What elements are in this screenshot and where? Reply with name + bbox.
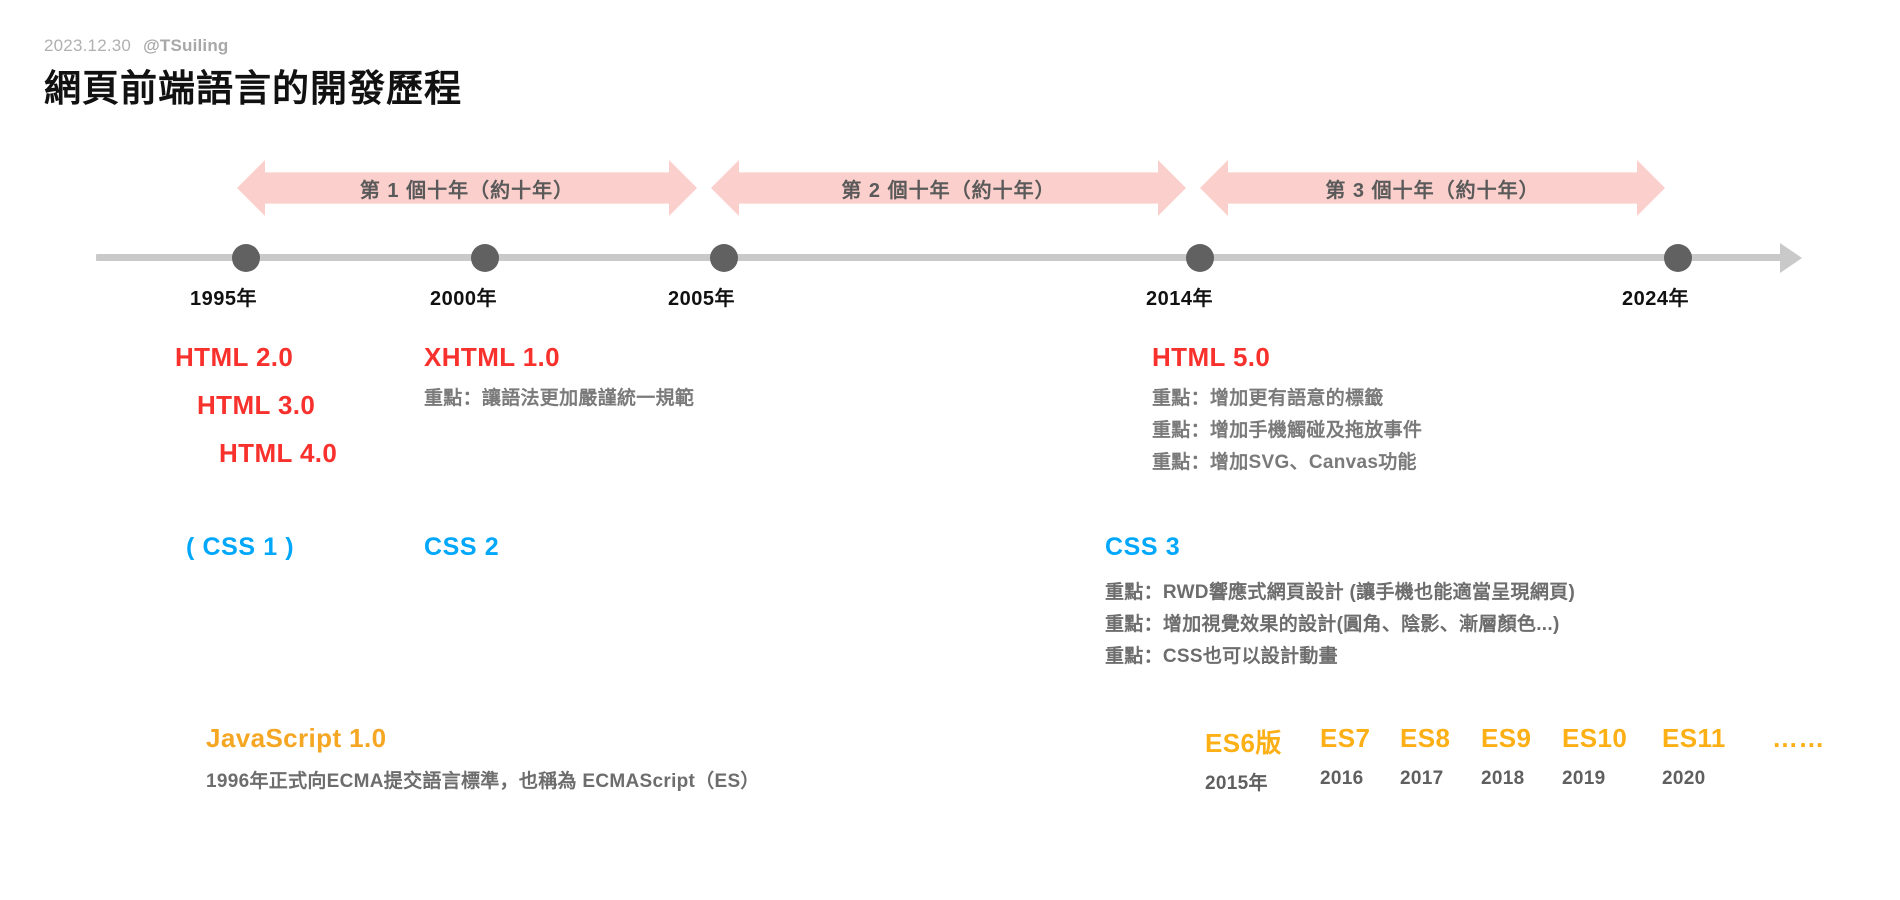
decade-banner-1: 第 1 個十年（約十年） <box>237 160 697 216</box>
es-version-1: ES7 <box>1320 723 1370 754</box>
css3-note-0: 重點：RWD響應式網頁設計 (讓手機也能適當呈現網頁) <box>1105 577 1575 604</box>
decade-banner-2: 第 2 個十年（約十年） <box>711 160 1186 216</box>
timeline-axis <box>96 254 1786 261</box>
timeline-dot-0 <box>232 244 260 272</box>
html-version-2: HTML 4.0 <box>219 438 337 469</box>
timeline-dot-2 <box>710 244 738 272</box>
html5-note-2: 重點：增加SVG、Canvas功能 <box>1152 447 1417 474</box>
html-version-0: HTML 2.0 <box>175 342 293 373</box>
css3-note-1: 重點：增加視覺效果的設計(圓角、陰影、漸層顏色...) <box>1105 609 1560 636</box>
page-title: 網頁前端語言的開發歷程 <box>44 58 462 112</box>
timeline-arrow-icon <box>1780 243 1802 273</box>
timeline-year-label-2: 2005年 <box>668 282 735 311</box>
timeline-dot-1 <box>471 244 499 272</box>
es-version-0: ES6版 <box>1205 723 1282 760</box>
xhtml-note: 重點：讓語法更加嚴謹統一規範 <box>424 383 694 410</box>
css2-title: CSS 2 <box>424 533 499 562</box>
html5-note-1: 重點：增加手機觸碰及拖放事件 <box>1152 415 1422 442</box>
meta-line: 2023.12.30@TSuiling <box>44 36 229 56</box>
timeline-dot-4 <box>1664 244 1692 272</box>
timeline-year-label-3: 2014年 <box>1146 282 1213 311</box>
decade-banner-3: 第 3 個十年（約十年） <box>1200 160 1665 216</box>
es-version-6: …… <box>1772 723 1825 754</box>
author-handle: @TSuiling <box>143 36 228 55</box>
es-year-0: 2015年 <box>1205 768 1268 795</box>
es-year-3: 2018 <box>1481 768 1524 790</box>
es-version-5: ES11 <box>1662 723 1726 754</box>
timeline-year-label-4: 2024年 <box>1622 282 1689 311</box>
css3-note-2: 重點：CSS也可以設計動畫 <box>1105 641 1338 668</box>
timeline-year-label-1: 2000年 <box>430 282 497 311</box>
javascript-title: JavaScript 1.0 <box>206 723 387 754</box>
html5-note-0: 重點：增加更有語意的標籤 <box>1152 383 1384 410</box>
es-year-2: 2017 <box>1400 768 1443 790</box>
css3-title: CSS 3 <box>1105 533 1180 562</box>
timeline-diagram: 2023.12.30@TSuiling 網頁前端語言的開發歷程 第 1 個十年（… <box>0 0 1900 900</box>
html5-title: HTML 5.0 <box>1152 342 1270 373</box>
es-version-2: ES8 <box>1400 723 1450 754</box>
es-year-4: 2019 <box>1562 768 1605 790</box>
publish-date: 2023.12.30 <box>44 36 131 55</box>
html-version-1: HTML 3.0 <box>197 390 315 421</box>
javascript-note: 1996年正式向ECMA提交語言標準，也稱為 ECMAScript（ES） <box>206 766 760 793</box>
es-year-1: 2016 <box>1320 768 1363 790</box>
es-year-5: 2020 <box>1662 768 1705 790</box>
timeline-year-label-0: 1995年 <box>190 282 257 311</box>
xhtml-title: XHTML 1.0 <box>424 342 560 373</box>
es-version-4: ES10 <box>1562 723 1627 754</box>
es-version-3: ES9 <box>1481 723 1531 754</box>
css1-title: ( CSS 1 ) <box>186 533 294 562</box>
timeline-dot-3 <box>1186 244 1214 272</box>
